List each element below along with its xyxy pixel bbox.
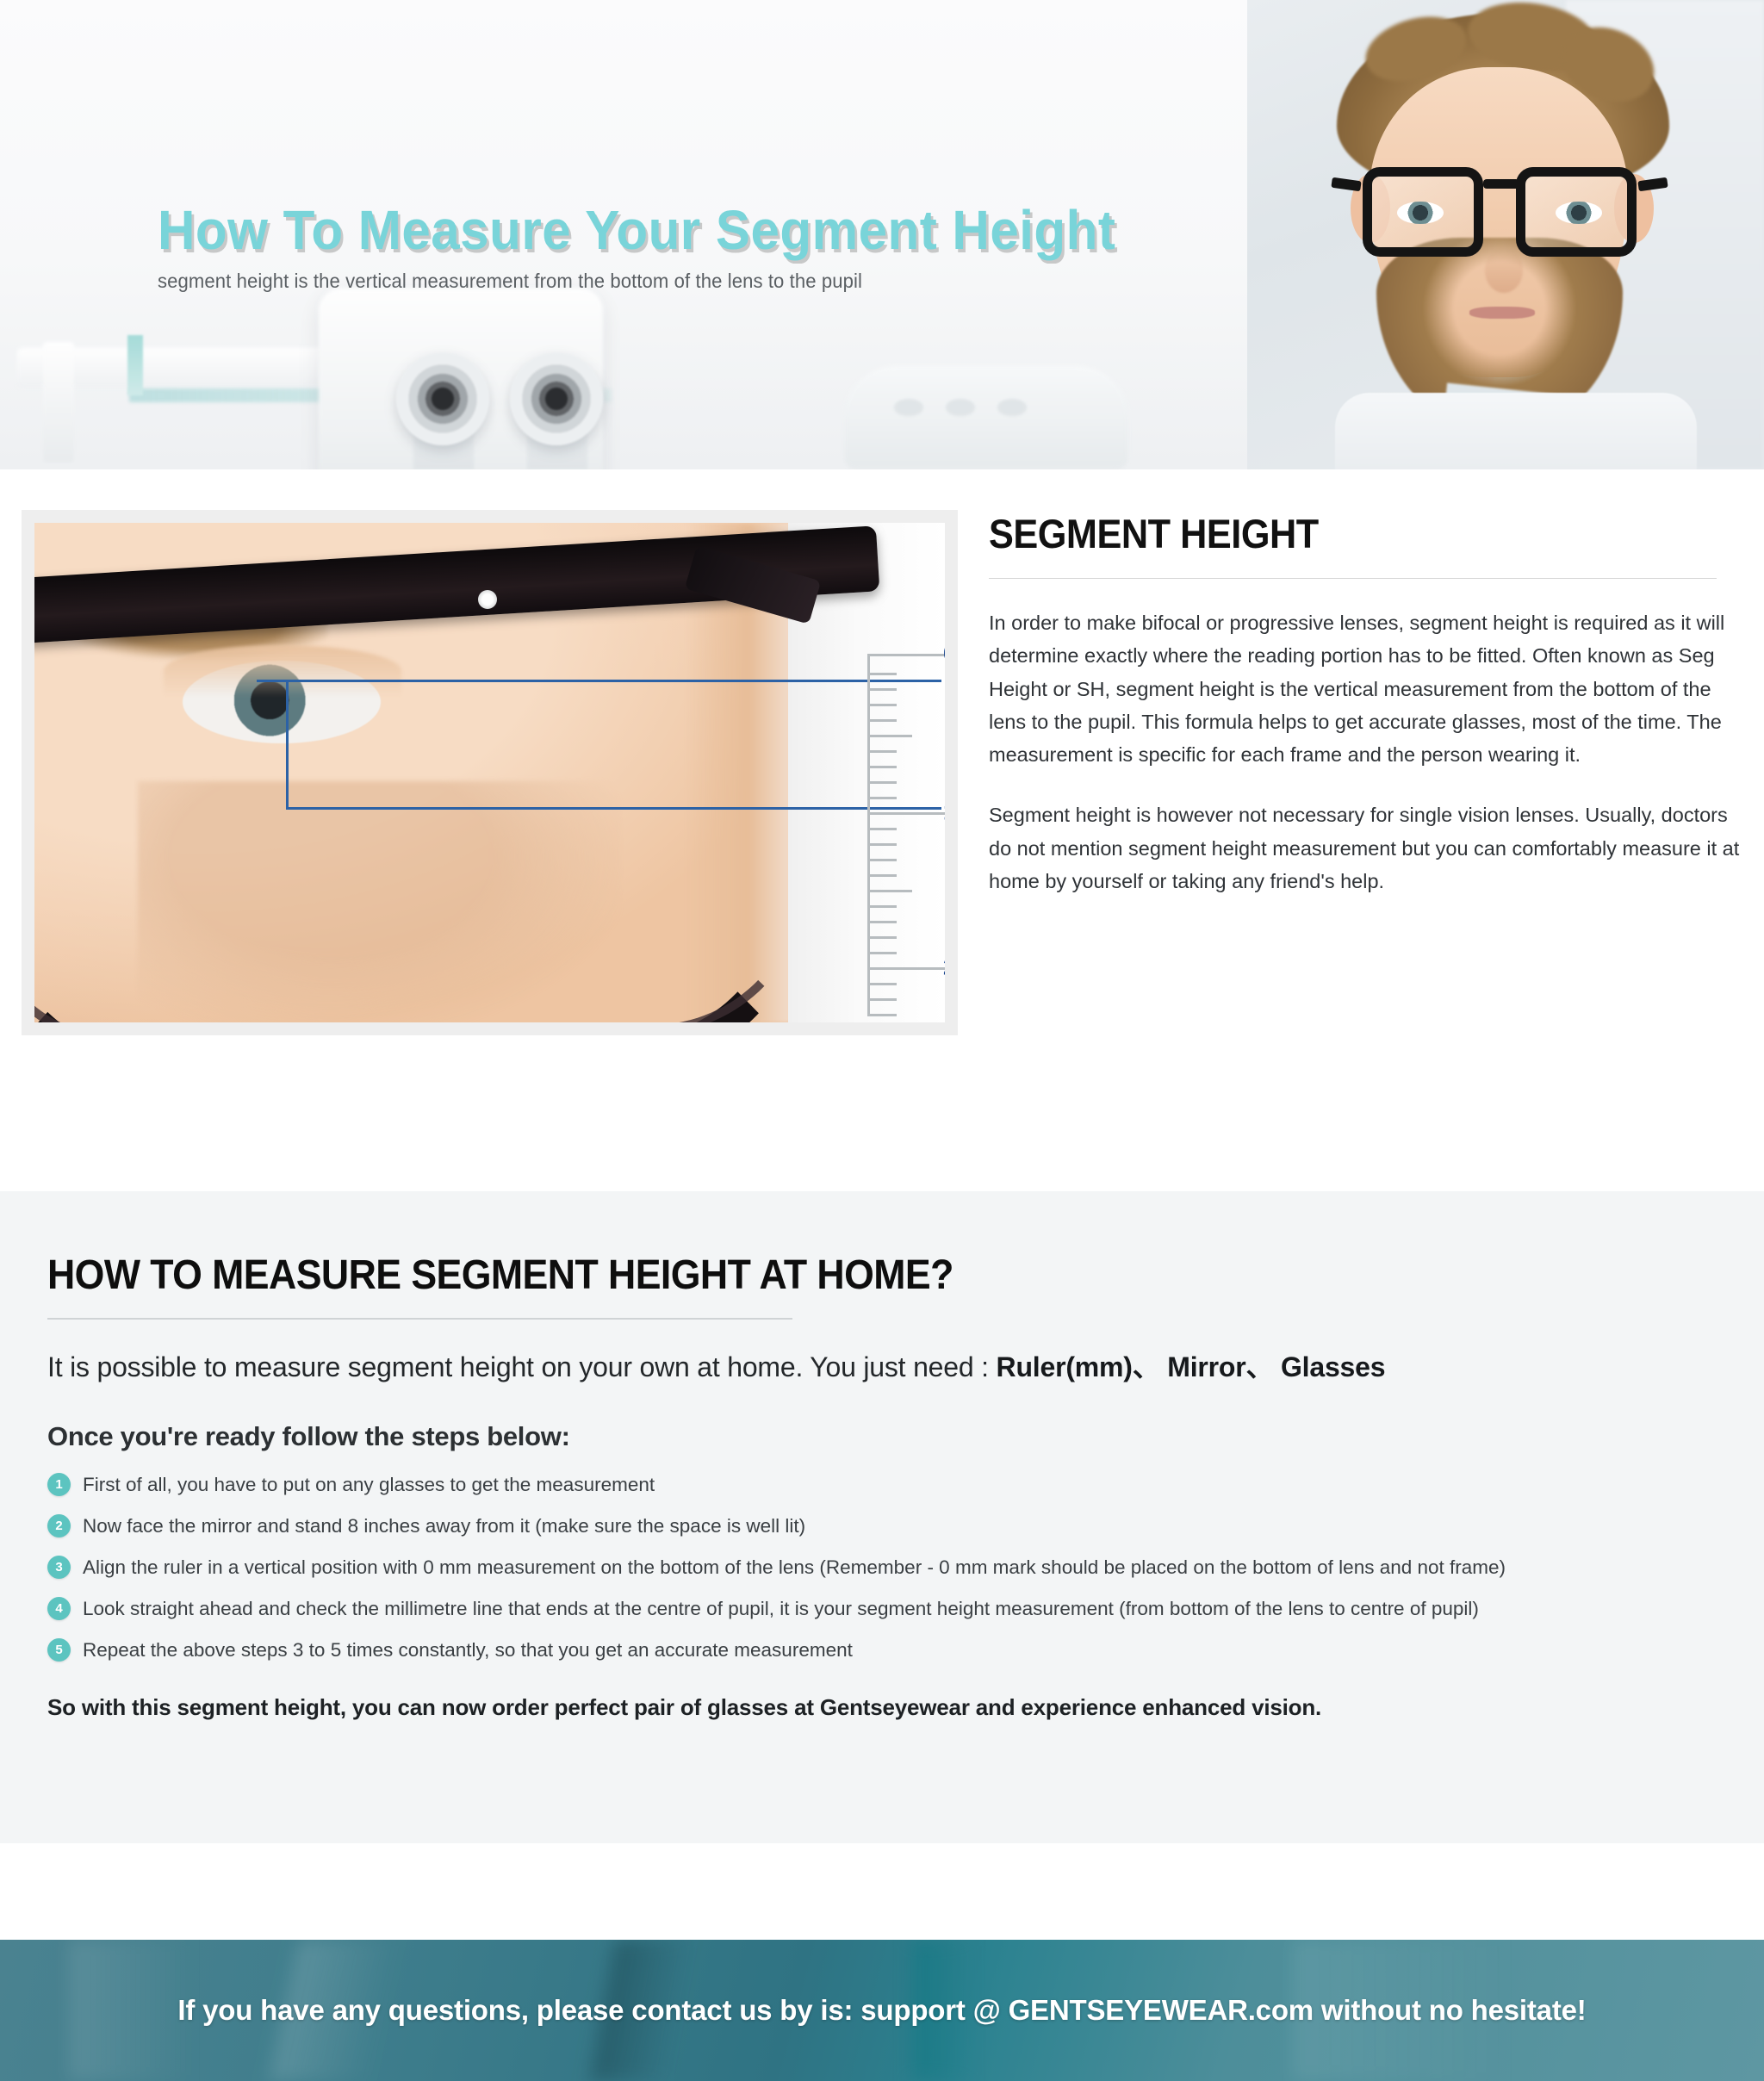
ruler-tick (867, 750, 897, 753)
measurement-photo-card: 0 1 2 (22, 510, 958, 1035)
ruler-tick (867, 936, 897, 939)
ruler-tick (867, 874, 897, 877)
segment-height-text: SEGMENT HEIGHT In order to make bifocal … (989, 510, 1742, 898)
ruler-tick (867, 673, 897, 675)
ruler-tick-0 (867, 654, 945, 656)
ruler-tick (867, 843, 897, 846)
phoropter-lens-left (396, 352, 489, 445)
howto-lead: It is possible to measure segment height… (47, 1345, 1738, 1385)
step-text: Look straight ahead and check the millim… (83, 1597, 1479, 1620)
ruler-tick (867, 952, 897, 954)
ruler-tick-half (867, 735, 912, 737)
eyeglass-bridge (1483, 179, 1519, 189)
equipment-teal-tab (127, 335, 143, 395)
hero-text-block: How To Measure Your Segment Height segme… (158, 202, 1177, 293)
equipment-post (43, 342, 74, 463)
ruler-tick (867, 719, 897, 722)
tray-dot (894, 399, 923, 416)
list-item: 2 Now face the mirror and stand 8 inches… (47, 1514, 1738, 1537)
ruler-tick-2 (867, 967, 945, 970)
ruler-tick (867, 688, 897, 691)
ruler-tick-1 (867, 812, 945, 815)
phoropter-illustration (0, 271, 1258, 469)
list-item: 4 Look straight ahead and check the mill… (47, 1597, 1738, 1620)
photo-frame-bottom (34, 886, 811, 1022)
ruler-tick (867, 781, 897, 784)
ruler-tick (867, 905, 897, 908)
step-text: First of all, you have to put on any gla… (83, 1473, 655, 1496)
tray-dot (997, 399, 1027, 416)
howto-step-list: 1 First of all, you have to put on any g… (47, 1473, 1738, 1662)
mouth (1469, 307, 1535, 319)
ruler-tick (867, 1014, 897, 1016)
page-title: How To Measure Your Segment Height (158, 202, 1115, 258)
step-number-badge: 4 (47, 1597, 71, 1620)
howto-divider (47, 1318, 792, 1320)
ruler-tick (867, 797, 897, 799)
section-spacer (0, 1843, 1764, 1940)
eye-right (1556, 202, 1602, 224)
step-text: Align the ruler in a vertical position w… (83, 1556, 1506, 1579)
step-text: Now face the mirror and stand 8 inches a… (83, 1514, 805, 1537)
step-number-badge: 1 (47, 1473, 71, 1496)
step-number-badge: 2 (47, 1514, 71, 1537)
howto-subheading: Once you're ready follow the steps below… (47, 1421, 1738, 1452)
howto-closing-line: So with this segment height, you can now… (47, 1694, 1738, 1721)
ruler-tick (867, 921, 897, 923)
photo-frame-hinge (478, 590, 497, 609)
howto-lead-plain: It is possible to measure segment height… (47, 1351, 997, 1382)
equipment-tray (844, 366, 1128, 469)
step-text: Repeat the above steps 3 to 5 times cons… (83, 1638, 853, 1662)
ruler-label-2: 2 (943, 954, 945, 981)
lab-coat (1335, 393, 1697, 469)
page-subtitle: segment height is the vertical measureme… (158, 270, 1136, 293)
measurement-photo: 0 1 2 (34, 523, 945, 1022)
list-item: 3 Align the ruler in a vertical position… (47, 1556, 1738, 1579)
ruler-tick (867, 983, 897, 985)
segment-paragraph-2: Segment height is however not necessary … (989, 798, 1742, 898)
ruler-tick (867, 998, 897, 1001)
howto-lead-items: Ruler(mm)、 Mirror、 Glasses (997, 1351, 1386, 1382)
ruler-overlay: 0 1 2 (814, 523, 945, 1022)
hero-banner: How To Measure Your Segment Height segme… (0, 0, 1764, 469)
ruler-tick (867, 704, 897, 706)
measurement-line-vertical (286, 680, 289, 810)
optician-portrait-photo (1247, 0, 1764, 469)
ruler-tick (867, 766, 897, 768)
title-divider (989, 578, 1717, 579)
ruler-tick-half (867, 890, 912, 892)
how-to-measure-section: HOW TO MEASURE SEGMENT HEIGHT AT HOME? I… (0, 1191, 1764, 1843)
ruler-tick (867, 859, 897, 861)
photo-eyelid (164, 645, 401, 697)
step-number-badge: 3 (47, 1556, 71, 1579)
eye-left (1397, 202, 1444, 224)
segment-paragraph-1: In order to make bifocal or progressive … (989, 606, 1742, 771)
portrait-head (1330, 22, 1674, 469)
phoropter-lens-right (510, 352, 603, 445)
ruler-label-0: 0 (943, 641, 945, 668)
eyeglass-temple-left (1331, 177, 1361, 192)
list-item: 5 Repeat the above steps 3 to 5 times co… (47, 1638, 1738, 1662)
segment-height-section: 0 1 2 SEGMENT HEIGHT In order to make bi… (0, 469, 1764, 1191)
tray-dot (946, 399, 975, 416)
ruler-label-1: 1 (943, 799, 945, 826)
eyeglasses-icon (1357, 167, 1642, 267)
list-item: 1 First of all, you have to put on any g… (47, 1473, 1738, 1496)
ruler-tick (867, 828, 897, 830)
contact-footer: If you have any questions, please contac… (0, 1940, 1764, 2081)
howto-heading: HOW TO MEASURE SEGMENT HEIGHT AT HOME? (47, 1252, 1620, 1299)
footer-contact-text: If you have any questions, please contac… (0, 1994, 1764, 2027)
section-title: SEGMENT HEIGHT (989, 510, 1682, 557)
step-number-badge: 5 (47, 1638, 71, 1662)
ruler-spine (867, 654, 870, 1016)
